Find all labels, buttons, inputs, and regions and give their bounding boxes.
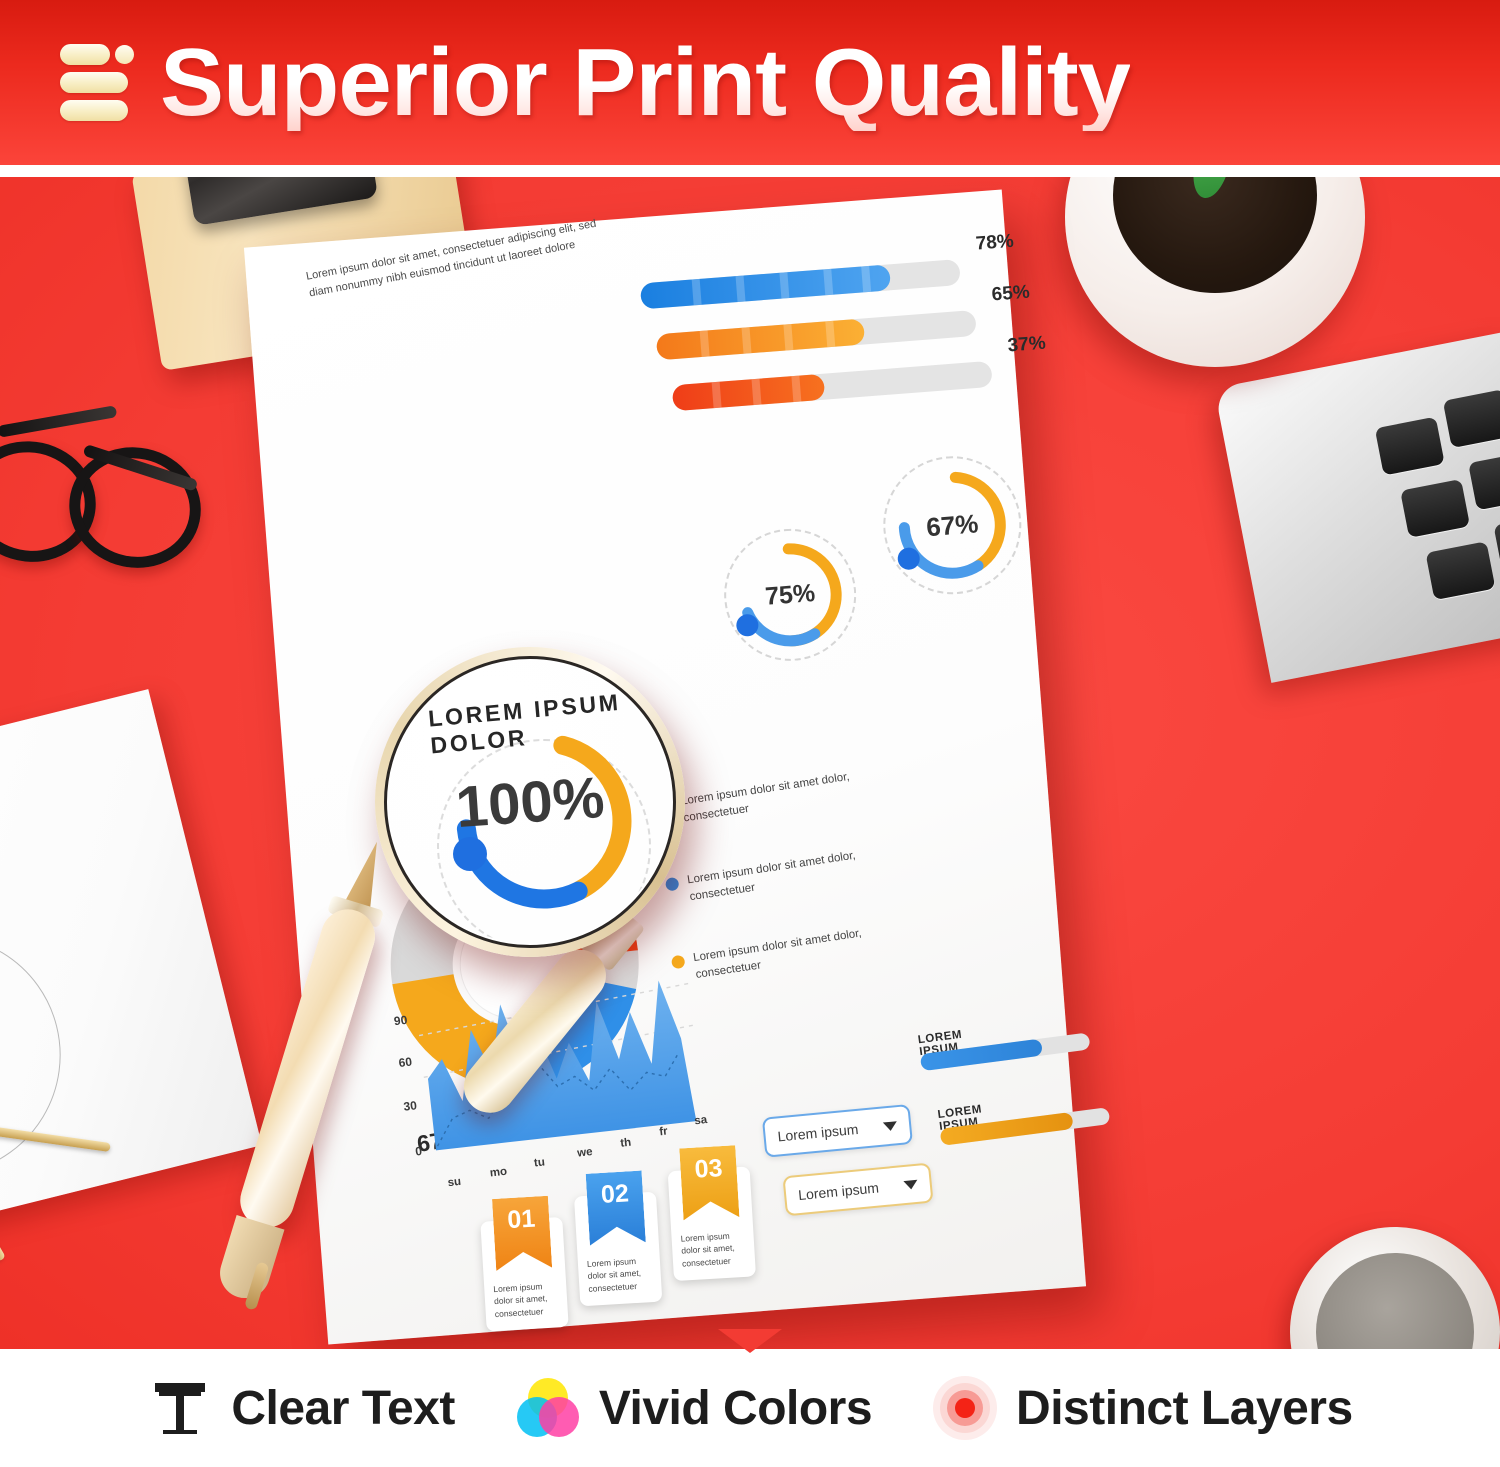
clipboard-clip (178, 177, 378, 226)
gauge-75-value: 75% (719, 524, 861, 666)
feature-bar: Clear Text Vivid Colors Distinct Layers (0, 1349, 1500, 1467)
concentric-rings-icon (932, 1375, 998, 1441)
card-02[interactable]: 02 Lorem ipsum dolor sit amet, consectet… (574, 1192, 662, 1307)
ceramic-mug (1290, 1227, 1500, 1349)
radial-gauge-67: 67% (878, 451, 1026, 599)
card-01[interactable]: 01 Lorem ipsum dolor sit amet, consectet… (480, 1217, 568, 1332)
header-banner: Superior Print Quality (0, 0, 1500, 165)
chevron-down-icon (903, 1179, 918, 1189)
legend-item: Lorem ipsum dolor sit amet dolor, consec… (670, 923, 883, 988)
cmyk-venn-icon (515, 1375, 581, 1441)
feature-vivid-colors: Vivid Colors (515, 1375, 872, 1441)
laptop-corner (1214, 331, 1500, 683)
magnified-gauge-100: LOREM IPSUM DOLOR 100% (389, 661, 671, 943)
soil (1113, 177, 1317, 293)
legend-item: Lorem ipsum dolor sit amet dolor, consec… (664, 845, 877, 910)
x-tick: th (620, 1137, 632, 1150)
feature-clear-text: Clear Text (147, 1375, 455, 1441)
header-divider (0, 165, 1500, 177)
chevron-down-icon (883, 1121, 898, 1131)
x-tick: we (577, 1146, 594, 1160)
legend-item: Lorem ipsum dolor sit amet dolor, consec… (658, 766, 871, 831)
eyeglasses (0, 390, 211, 614)
x-tick: tu (533, 1156, 545, 1169)
y-tick: 30 (403, 1098, 418, 1113)
x-tick: fr (659, 1125, 669, 1138)
card-01-text: Lorem ipsum dolor sit amet, consectetuer (493, 1279, 561, 1320)
stacked-bars-icon (56, 41, 134, 125)
product-photo-scene: Lorem ipsum dolor sit amet, consectetuer… (0, 177, 1500, 1349)
y-tick: 90 (393, 1013, 408, 1028)
dropdown-amber[interactable]: Lorem ipsum (782, 1163, 933, 1217)
card-03[interactable]: 03 Lorem ipsum dolor sit amet, consectet… (668, 1166, 756, 1281)
page-title: Superior Print Quality (160, 35, 1130, 131)
progress-value-2: 65% (991, 282, 1031, 307)
progress-value-1: 78% (975, 231, 1015, 256)
progress-bar-row-3: 37% (672, 385, 674, 411)
numbered-cards: 01 Lorem ipsum dolor sit amet, consectet… (479, 1202, 759, 1333)
magnified-gauge-value: 100% (389, 661, 671, 943)
progress-bar-row-1: 78% (640, 284, 642, 310)
x-tick: su (447, 1176, 462, 1189)
dropdown-amber-value: Lorem ipsum (797, 1180, 879, 1204)
card-02-number: 02 (586, 1170, 646, 1245)
magnifying-glass: LOREM IPSUM DOLOR 100% (375, 647, 685, 957)
radial-gauge-75: 75% (719, 524, 861, 666)
potted-succulent (1065, 177, 1365, 367)
x-tick: mo (489, 1166, 507, 1180)
scene-notch (718, 1329, 782, 1353)
feature-distinct-layers: Distinct Layers (932, 1375, 1353, 1441)
feature-vivid-colors-label: Vivid Colors (599, 1381, 872, 1436)
text-type-icon (147, 1375, 213, 1441)
pencil-circle (0, 910, 86, 1201)
feature-distinct-layers-label: Distinct Layers (1016, 1381, 1353, 1436)
sketch-paper-with-compass (0, 689, 262, 1225)
card-02-text: Lorem ipsum dolor sit amet, consectetuer (587, 1254, 655, 1295)
card-01-number: 01 (492, 1196, 552, 1271)
dropdown-blue-value: Lorem ipsum (777, 1121, 859, 1145)
dropdown-blue[interactable]: Lorem ipsum (762, 1104, 913, 1158)
progress-value-3: 37% (1007, 333, 1047, 358)
gauge-67-value: 67% (878, 451, 1026, 599)
y-tick: 60 (398, 1055, 413, 1070)
feature-clear-text-label: Clear Text (231, 1381, 455, 1436)
progress-bar-row-2: 65% (656, 334, 658, 360)
y-tick: 0 (415, 1144, 423, 1159)
card-03-text: Lorem ipsum dolor sit amet, consectetuer (680, 1229, 748, 1270)
x-tick: sa (694, 1114, 708, 1127)
card-03-number: 03 (679, 1145, 739, 1220)
